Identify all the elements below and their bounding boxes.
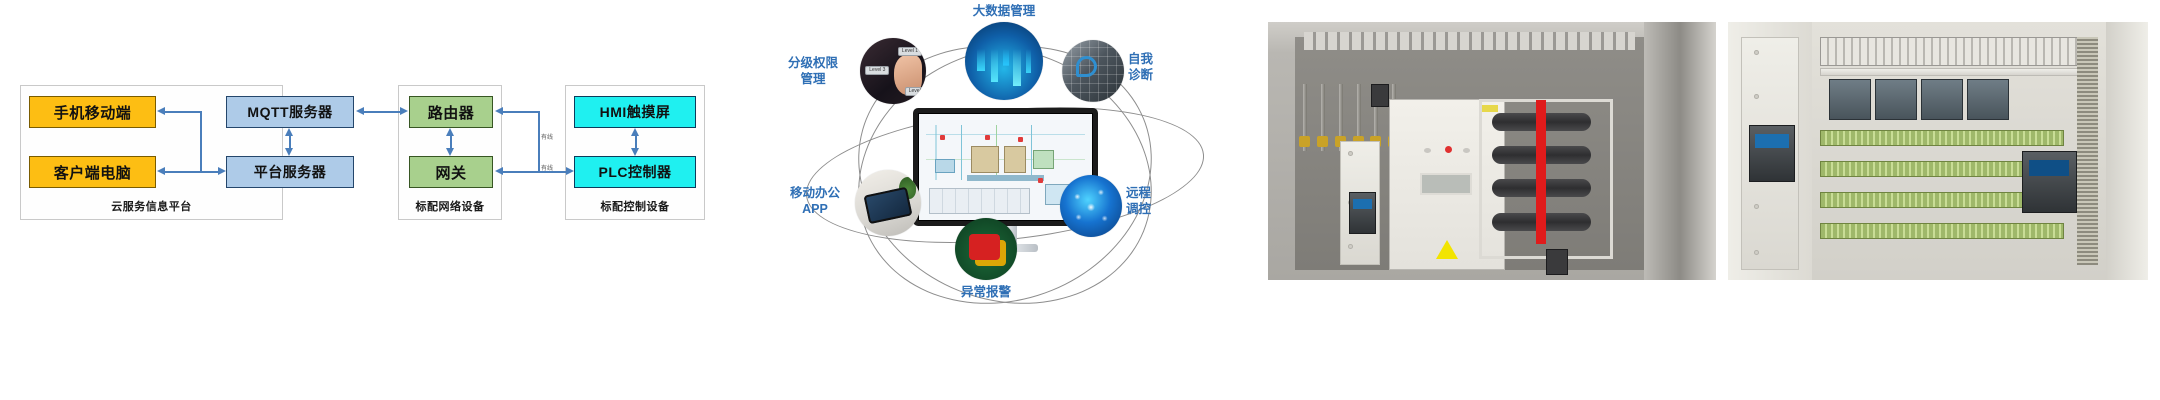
tablet-screen <box>863 187 912 224</box>
label-abnormal-alarm: 异常报警 <box>926 285 1046 301</box>
arrow-router-up <box>446 128 454 136</box>
junction-box-upper <box>1371 84 1389 107</box>
network-nodes <box>1060 175 1122 237</box>
level-tag-1: Level 1 <box>898 47 922 56</box>
plc-module-2 <box>1875 79 1917 120</box>
tablet-icon[interactable] <box>855 170 921 236</box>
block-plc-controller[interactable]: PLC控制器 <box>574 156 696 188</box>
plc-module-3 <box>1921 79 1963 120</box>
arrow-gateway-down <box>446 148 454 156</box>
conn-bus-to-gateway <box>503 171 539 173</box>
display-window <box>1420 173 1473 195</box>
conn-mqtt-router <box>361 111 403 113</box>
pipe-bank <box>1492 110 1591 249</box>
conn-bus-to-platform <box>200 171 218 173</box>
level-tag-n: Level <box>905 87 925 96</box>
plc-module-4 <box>1967 79 2009 120</box>
cabinet-vent-strip <box>1304 32 1636 50</box>
junction-box-lower <box>1546 249 1568 275</box>
screenshot-root: 云服务信息平台 标配网络设备 标配控制设备 手机移动端 MQTT服务器 路由器 … <box>0 0 2160 400</box>
arrow-to-platform <box>218 167 226 175</box>
wire-tag-lower: 有线 <box>541 163 553 172</box>
conn-bus-to-mobile <box>165 111 201 113</box>
knob-right <box>1463 148 1470 153</box>
arrow-router-to-mqtt <box>356 107 364 115</box>
arrow-mqtt-to-router <box>400 107 408 115</box>
block-mqtt-server[interactable]: MQTT服务器 <box>226 96 354 128</box>
electrical-panel-photo-wiring <box>1728 22 2148 280</box>
label-self-diagnosis: 自我 诊断 <box>1128 52 1186 83</box>
arrow-to-gateway <box>495 167 503 175</box>
small-drive-unit <box>1349 192 1376 233</box>
red-indicator-led <box>1445 146 1452 153</box>
conn-right-bus <box>538 111 540 172</box>
block-platform-server[interactable]: 平台服务器 <box>226 156 354 188</box>
wire-duct-vertical <box>2077 37 2098 264</box>
bigdata-icon[interactable] <box>965 22 1043 100</box>
terminal-strip-1 <box>1820 130 2064 145</box>
level-tag-3: Level 3 <box>865 66 889 75</box>
arrow-hmi-up <box>631 128 639 136</box>
label-remote-control: 远程 调控 <box>1126 186 1184 217</box>
block-client-pc[interactable]: 客户端电脑 <box>29 156 156 188</box>
group-network-label: 标配网络设备 <box>399 198 501 214</box>
alarm-sign <box>969 234 1000 260</box>
label-tiered-authority: 分级权限 管理 <box>770 56 856 87</box>
arrow-to-router <box>495 107 503 115</box>
cabinet-door <box>1644 22 1716 280</box>
network-icon[interactable] <box>1060 175 1122 237</box>
vfd-drive-unit <box>1749 125 1795 182</box>
conn-vertical-bus <box>200 111 202 172</box>
stethoscope-icon[interactable] <box>1062 40 1124 102</box>
block-hmi-touch-panel[interactable]: HMI触摸屏 <box>574 96 696 128</box>
bigdata-bars <box>977 49 1030 86</box>
terminal-strip-4 <box>1820 223 2064 238</box>
alarm-icon[interactable] <box>955 218 1017 280</box>
block-router[interactable]: 路由器 <box>409 96 493 128</box>
plc-module-1 <box>1829 79 1871 120</box>
conn-bus-to-router <box>503 111 539 113</box>
controller-unit-right <box>2022 151 2077 213</box>
arrow-platform-down <box>285 148 293 156</box>
system-architecture-block-diagram: 云服务信息平台 标配网络设备 标配控制设备 手机移动端 MQTT服务器 路由器 … <box>0 0 760 400</box>
breaker-row-top <box>1820 37 2080 65</box>
label-bigdata: 大数据管理 <box>934 4 1074 20</box>
arrow-plc-down <box>631 148 639 156</box>
block-gateway[interactable]: 网关 <box>409 156 493 188</box>
wire-tag-upper: 有线 <box>541 132 553 141</box>
arrow-to-mobile <box>157 107 165 115</box>
capability-circle-infographic: 大数据管理 自我 诊断 远程 调控 异常报警 移动办公 APP Level 1 … <box>760 0 1260 400</box>
scope-ring <box>1076 56 1097 77</box>
arrow-to-client <box>157 167 165 175</box>
group-control-label: 标配控制设备 <box>566 198 704 214</box>
levels-icon[interactable]: Level 1 Level 3 Level <box>860 38 926 104</box>
conn-bus-to-client <box>165 171 201 173</box>
arrow-to-plc <box>566 167 574 175</box>
block-mobile-client[interactable]: 手机移动端 <box>29 96 156 128</box>
control-cabinet-photo-open-door <box>1268 22 1716 280</box>
high-voltage-warning-icon <box>1436 240 1458 259</box>
din-rail-1 <box>1820 68 2080 76</box>
arrow-mqtt-up <box>285 128 293 136</box>
label-mobile-office-app: 移动办公 APP <box>776 186 854 217</box>
panel-right-door <box>2106 22 2148 280</box>
knob-left <box>1424 148 1431 153</box>
group-cloud-label: 云服务信息平台 <box>21 198 282 214</box>
